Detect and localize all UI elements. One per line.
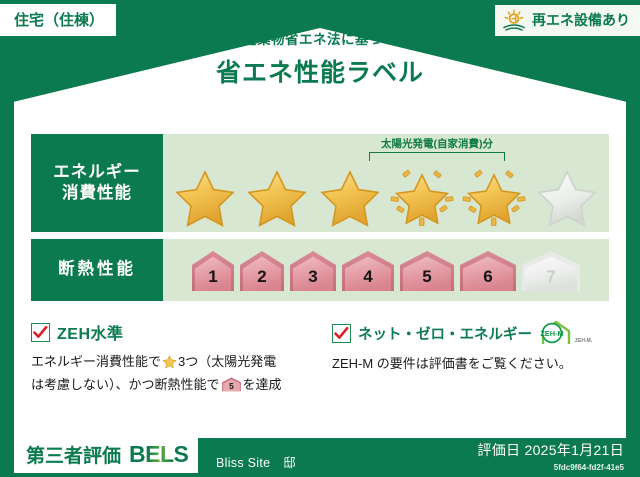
title-block: 建築物省エネ法に基づく 省エネ性能ラベル [0,28,640,89]
zeh-standard-title: ZEH水準 [57,320,124,344]
star-2 [244,166,310,228]
bels-badge: 第三者評価 BELS [14,437,198,473]
zeh-checkbox[interactable] [31,323,50,342]
energy-row-label: エネルギー 消費性能 [31,134,163,232]
building-owner-name: Bliss Site 邸 [216,452,296,471]
grade-house-4-number: 4 [340,267,396,287]
insulation-performance-row: 断熱性能 [31,239,609,301]
solar-sun-icon [501,9,527,31]
grade-house-1: 1 [190,247,236,293]
nze-header: ネット・ゼロ・エネルギー ZEH-M ZEH-M. [332,320,599,346]
page-title: 省エネ性能ラベル [0,53,640,89]
footer: 第三者評価 BELS Bliss Site 邸 評価日 2025年1月21日 5… [0,432,640,477]
house-grade-5-icon: 5 [221,376,242,398]
star-4-sparkle [389,166,455,228]
insulation-row-body: 1 2 3 [163,239,609,301]
grade-house-5-number: 5 [398,267,456,287]
nze-block: ネット・ゼロ・エネルギー ZEH-M ZEH-M. ZEH-M の要件は評価書を… [320,320,609,398]
zeh-standard-block: ZEH水準 エネルギー消費性能で3つ（太陽光発電は考慮しない）、かつ断熱性能で5… [31,320,320,398]
performance-rows: エネルギー 消費性能 太陽光発電(自家消費)分 [31,134,609,308]
insulation-row-label: 断熱性能 [31,239,163,301]
zeh-body-part4: を達成 [243,377,282,392]
category-tag: 住宅（住棟） [0,4,116,36]
energy-row-label-line2: 消費性能 [62,183,132,204]
star-6-empty [534,166,600,228]
energy-performance-row: エネルギー 消費性能 太陽光発電(自家消費)分 [31,134,609,232]
nze-body: ZEH-M の要件は評価書をご覧ください。 [332,354,599,374]
evaluation-date: 評価日 2025年1月21日 [477,440,624,460]
zeh-standard-body: エネルギー消費性能で3つ（太陽光発電は考慮しない）、かつ断熱性能で5を達成 [31,352,310,398]
document-id: 5fdc9f64-fd2f-41e5 [477,463,624,472]
zeh-m-logo: ZEH-M ZEH-M. [539,320,592,346]
svg-text:ZEH-M: ZEH-M [540,329,563,338]
zeh-body-part2: 3つ（太陽光発電 [178,354,276,369]
check-icon [334,326,349,341]
renewable-equipment-badge: 再エネ設備あり [495,5,640,36]
star-icon [162,354,177,375]
zeh-m-house-icon: ZEH-M [539,320,573,346]
check-icon [33,325,48,340]
energy-row-body: 太陽光発電(自家消費)分 [163,134,609,232]
grade-house-3: 3 [288,247,338,293]
nze-checkbox[interactable] [332,324,351,343]
grade-house-4: 4 [340,247,396,293]
grade-house-5: 5 [398,247,456,293]
grade-house-6-number: 6 [458,267,518,287]
zeh-standard-header: ZEH水準 [31,320,310,344]
insulation-grade-scale: 1 2 3 [163,239,609,301]
star-1 [172,166,238,228]
zeh-m-logo-subtext: ZEH-M. [575,338,592,346]
certification-checks: ZEH水準 エネルギー消費性能で3つ（太陽光発電は考慮しない）、かつ断熱性能で5… [31,320,609,398]
grade-house-2: 2 [238,247,286,293]
grade-house-1-number: 1 [190,267,236,287]
star-5-sparkle [461,166,527,228]
zeh-body-part3: は考慮しない）、かつ断熱性能で [31,377,220,392]
bels-logo-text: BELS [129,441,188,468]
grade-house-7-number: 7 [520,267,582,287]
grade-house-2-number: 2 [238,267,286,287]
star-3 [317,166,383,228]
zeh-body-part1: エネルギー消費性能で [31,354,161,369]
star-rating [163,134,609,232]
energy-row-label-line1: エネルギー [53,162,141,183]
bels-jp-label: 第三者評価 [26,441,121,468]
svg-text:5: 5 [229,381,234,391]
footer-right: 評価日 2025年1月21日 5fdc9f64-fd2f-41e5 [477,440,624,472]
nze-title: ネット・ゼロ・エネルギー [358,323,532,344]
energy-performance-label: 住宅（住棟） 再エネ設備あり 建築物省エネ法に基づく 省エネ性能ラベル [0,0,640,477]
grade-house-3-number: 3 [288,267,338,287]
grade-house-7-empty: 7 [520,247,582,293]
renewable-badge-label: 再エネ設備あり [532,10,630,30]
grade-house-6: 6 [458,247,518,293]
